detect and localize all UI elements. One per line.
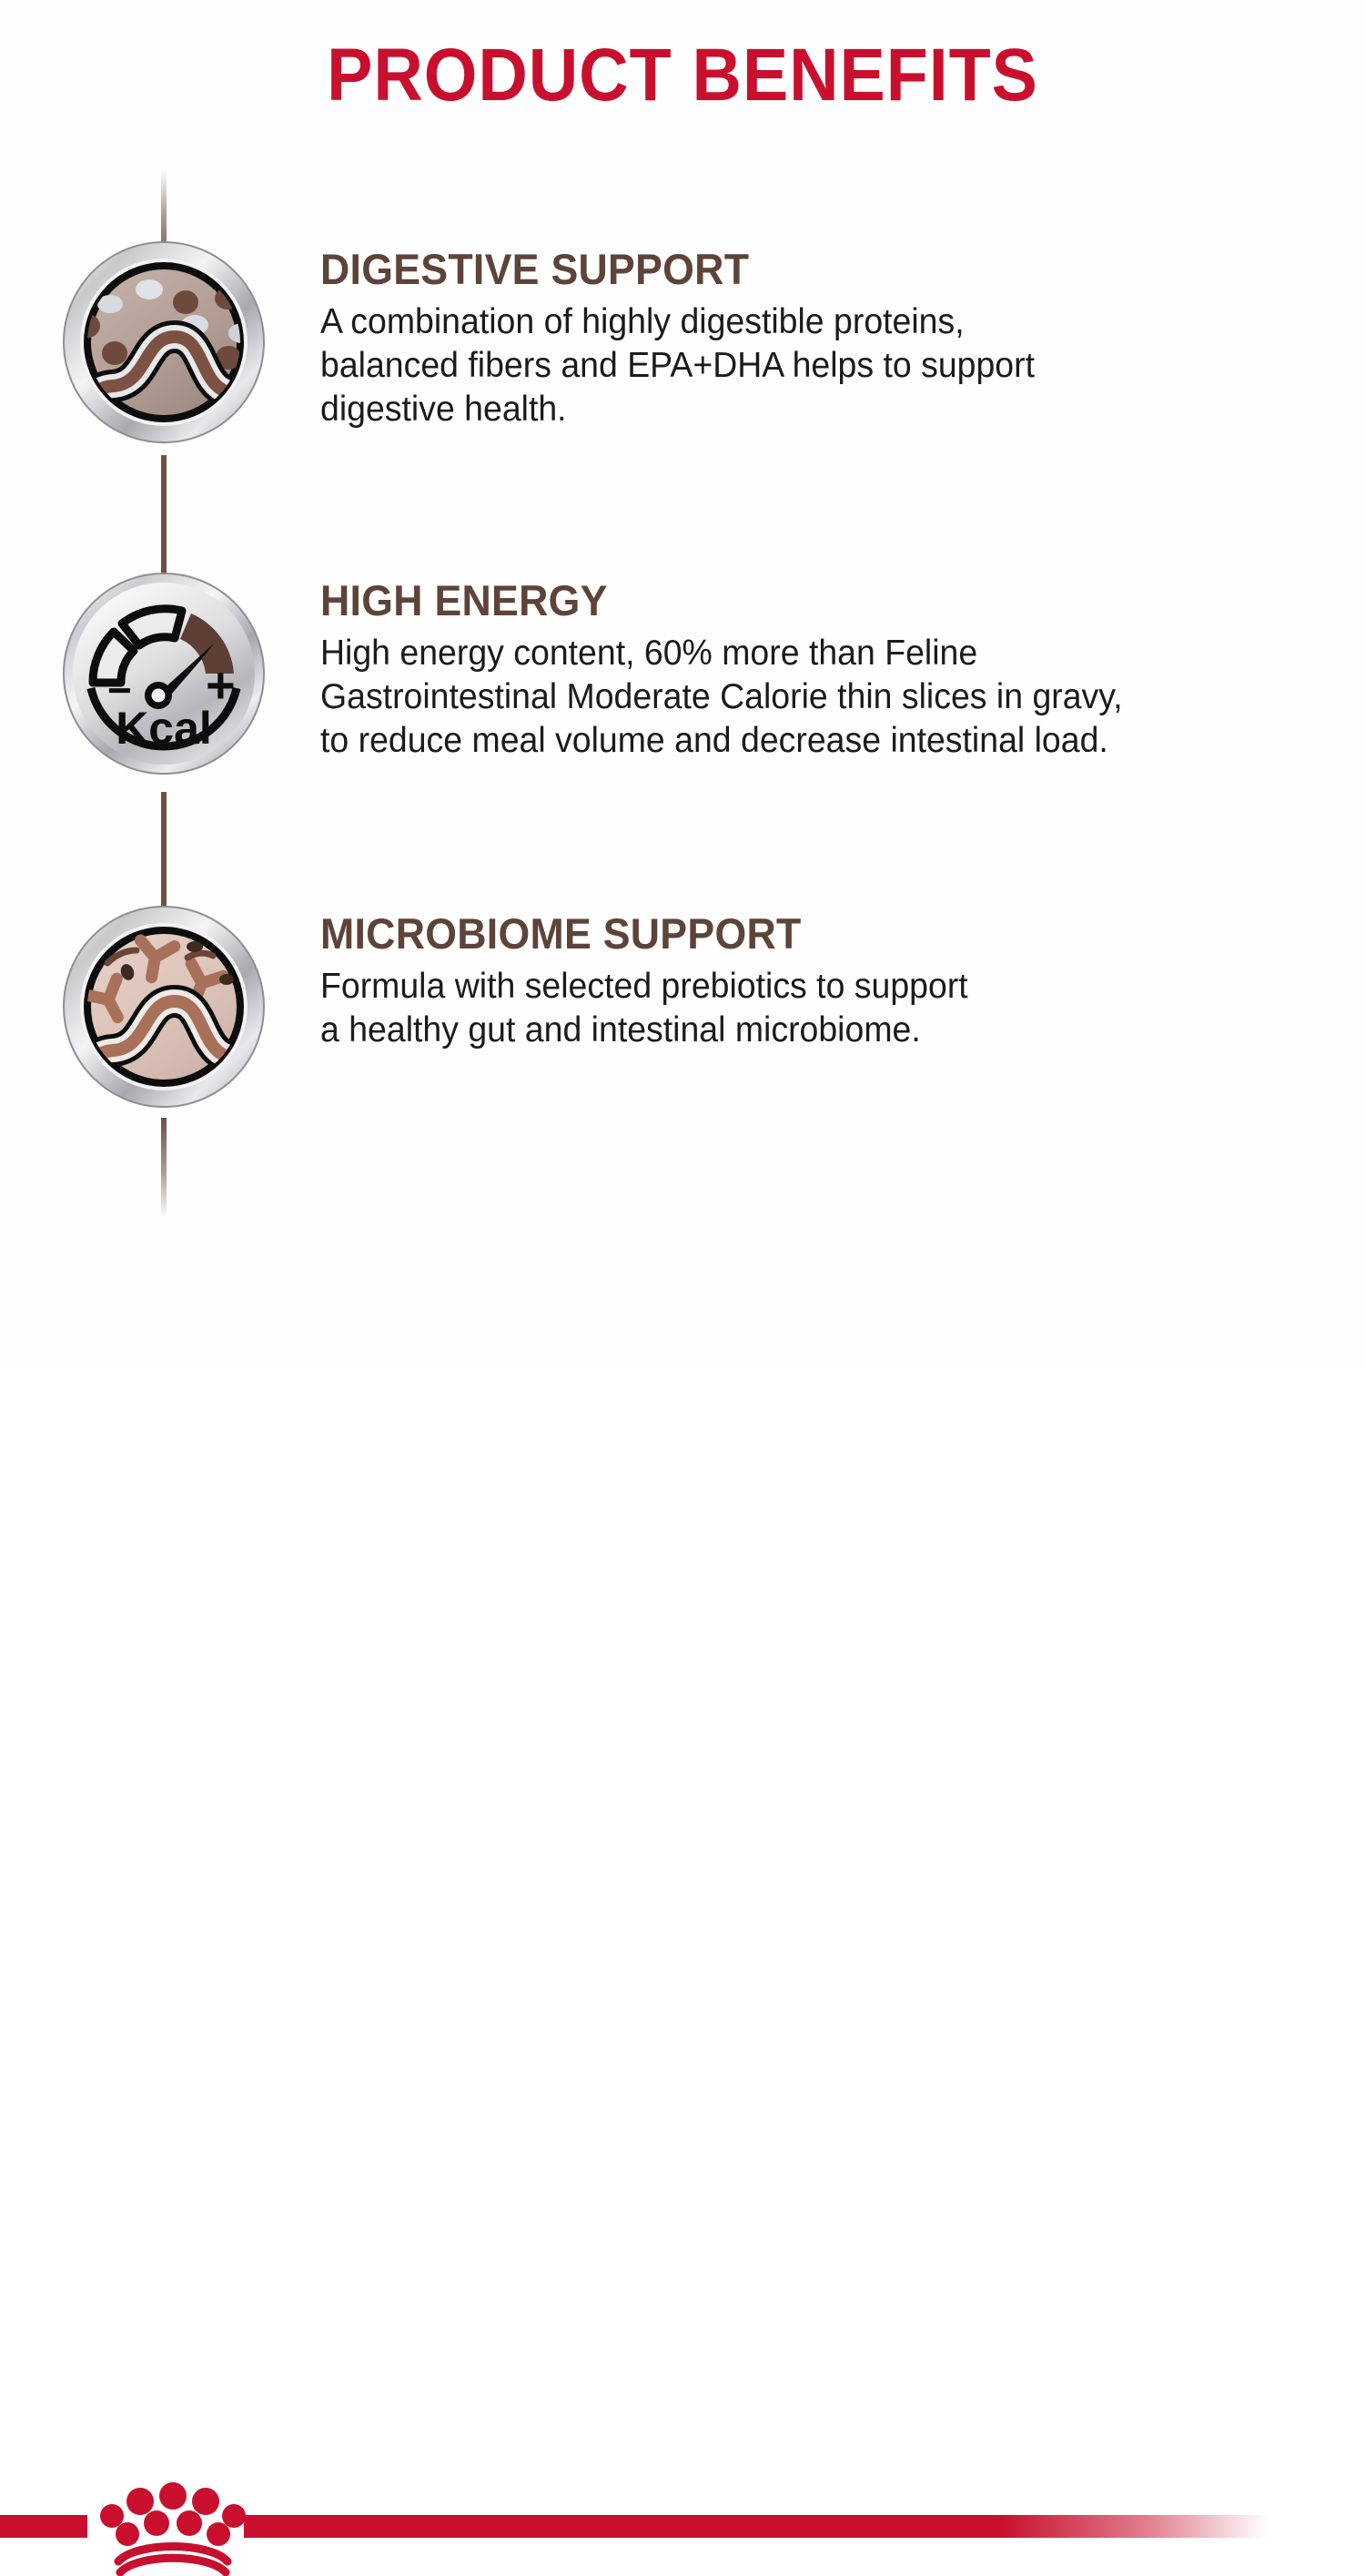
connector-line-middle-1	[161, 455, 167, 583]
benefit-body-line: balanced fibers and EPA+DHA helps to sup…	[320, 344, 1290, 388]
benefit-body-line: High energy content, 60% more than Felin…	[320, 632, 1290, 675]
benefit-title: HIGH ENERGY	[320, 577, 1280, 624]
footer	[0, 1236, 1365, 1365]
gauge-kcal-label: Kcal	[116, 703, 212, 754]
benefit-row-digestive-support: DIGESTIVE SUPPORT A combination of highl…	[0, 238, 1365, 457]
kcal-gauge-icon: − + Kcal	[60, 570, 268, 777]
benefit-text-high-energy: HIGH ENERGY High energy content, 60% mor…	[320, 577, 1330, 763]
benefit-body: Formula with selected prebiotics to supp…	[320, 965, 1290, 1052]
benefit-title: MICROBIOME SUPPORT	[320, 910, 1280, 958]
benefit-text-digestive-support: DIGESTIVE SUPPORT A combination of highl…	[320, 246, 1330, 431]
benefit-row-microbiome-support: MICROBIOME SUPPORT Formula with selected…	[0, 903, 1365, 1121]
footer-rule-right	[244, 2515, 1268, 2538]
connector-line-bottom	[161, 1118, 167, 1218]
benefit-body-line: to reduce meal volume and decrease intes…	[320, 719, 1290, 763]
page-title: PRODUCT BENEFITS	[55, 33, 1310, 118]
benefit-title: DIGESTIVE SUPPORT	[320, 246, 1280, 293]
benefit-body: A combination of highly digestible prote…	[320, 300, 1290, 431]
benefit-body: High energy content, 60% more than Felin…	[320, 632, 1290, 763]
benefit-body-line: digestive health.	[320, 388, 1290, 431]
digestive-tract-icon	[60, 238, 268, 446]
benefit-body-line: Formula with selected prebiotics to supp…	[320, 965, 1290, 1009]
benefit-row-high-energy: − + Kcal HIGH ENERGY High energy content…	[0, 570, 1365, 788]
benefit-body-line: a healthy gut and intestinal microbiome.	[320, 1009, 1290, 1052]
microbiome-icon	[60, 903, 268, 1111]
benefit-body-line: Gastrointestinal Moderate Calorie thin s…	[320, 675, 1290, 719]
product-benefits-page: PRODUCT BENEFITS	[0, 0, 1365, 1365]
connector-line-middle-2	[161, 792, 167, 915]
benefit-text-microbiome-support: MICROBIOME SUPPORT Formula with selected…	[320, 910, 1330, 1052]
benefit-body-line: A combination of highly digestible prote…	[320, 300, 1290, 344]
footer-rule-left	[0, 2515, 87, 2538]
royal-canin-crown-logo	[95, 2481, 251, 2576]
